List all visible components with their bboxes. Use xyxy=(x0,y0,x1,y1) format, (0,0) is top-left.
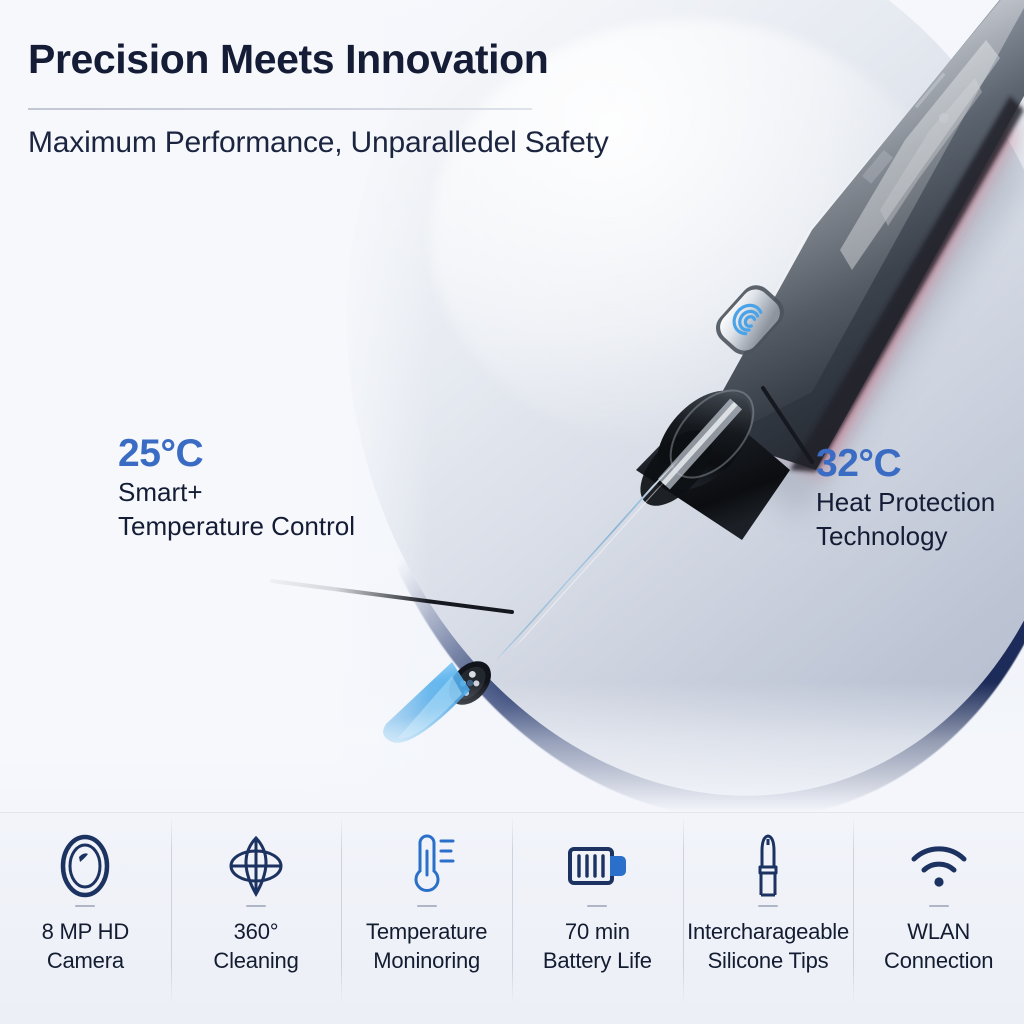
callout-left-temperature: 25°C xyxy=(118,434,355,475)
feature-label-wlan: WLAN Connection xyxy=(884,917,993,976)
page-subtitle: Maximum Performance, Unparalledel Safety xyxy=(28,126,609,160)
feature-item-temperature[interactable]: Temperature Moninoring xyxy=(341,813,512,1024)
feature-item-battery[interactable]: 70 min Battery Life xyxy=(512,813,683,1024)
callout-heat-protection: 32°C Heat Protection Technology xyxy=(816,444,995,554)
feature-item-wlan[interactable]: WLAN Connection xyxy=(853,813,1024,1024)
feature-label-battery: 70 min Battery Life xyxy=(543,917,652,976)
feature-item-silicone-tips[interactable]: Intercharageable Silicone Tips xyxy=(683,813,854,1024)
product-hero-stage: Precision Meets Innovation Maximum Perfo… xyxy=(0,0,1024,812)
battery-icon xyxy=(564,831,630,901)
feature-dash xyxy=(929,905,949,907)
feature-label-camera: 8 MP HD Camera xyxy=(42,917,129,976)
wifi-icon xyxy=(906,831,972,901)
feature-dash xyxy=(246,905,266,907)
feature-item-camera[interactable]: 8 MP HD Camera xyxy=(0,813,171,1024)
callout-right-temperature: 32°C xyxy=(816,444,995,485)
feature-dash xyxy=(587,905,607,907)
feature-bar: 8 MP HD Camera 360° Cleaning xyxy=(0,812,1024,1024)
thermometer-icon xyxy=(397,831,457,901)
feature-item-cleaning[interactable]: 360° Cleaning xyxy=(171,813,342,1024)
callout-left-line1: Smart+ xyxy=(118,475,355,509)
camera-lens-icon xyxy=(57,831,113,901)
callout-right-line1: Heat Protection xyxy=(816,485,995,519)
feature-label-silicone-tips: Intercharageable Silicone Tips xyxy=(687,917,849,976)
product-infographic: Precision Meets Innovation Maximum Perfo… xyxy=(0,0,1024,1024)
feature-dash xyxy=(75,905,95,907)
disc-gloss-highlight xyxy=(430,20,950,450)
stage-bottom-fade xyxy=(0,682,1024,812)
callout-right-line2: Technology xyxy=(816,519,995,553)
callout-temperature-control: 25°C Smart+ Temperature Control xyxy=(118,434,355,544)
rotation-360-icon xyxy=(226,831,286,901)
title-divider xyxy=(28,108,532,110)
feature-label-cleaning: 360° Cleaning xyxy=(213,917,298,976)
callout-left-line2: Temperature Control xyxy=(118,509,355,543)
feature-label-temperature: Temperature Moninoring xyxy=(366,917,487,976)
page-title: Precision Meets Innovation xyxy=(28,36,548,83)
feature-dash xyxy=(758,905,778,907)
feature-dash xyxy=(417,905,437,907)
silicone-tip-icon xyxy=(746,831,790,901)
